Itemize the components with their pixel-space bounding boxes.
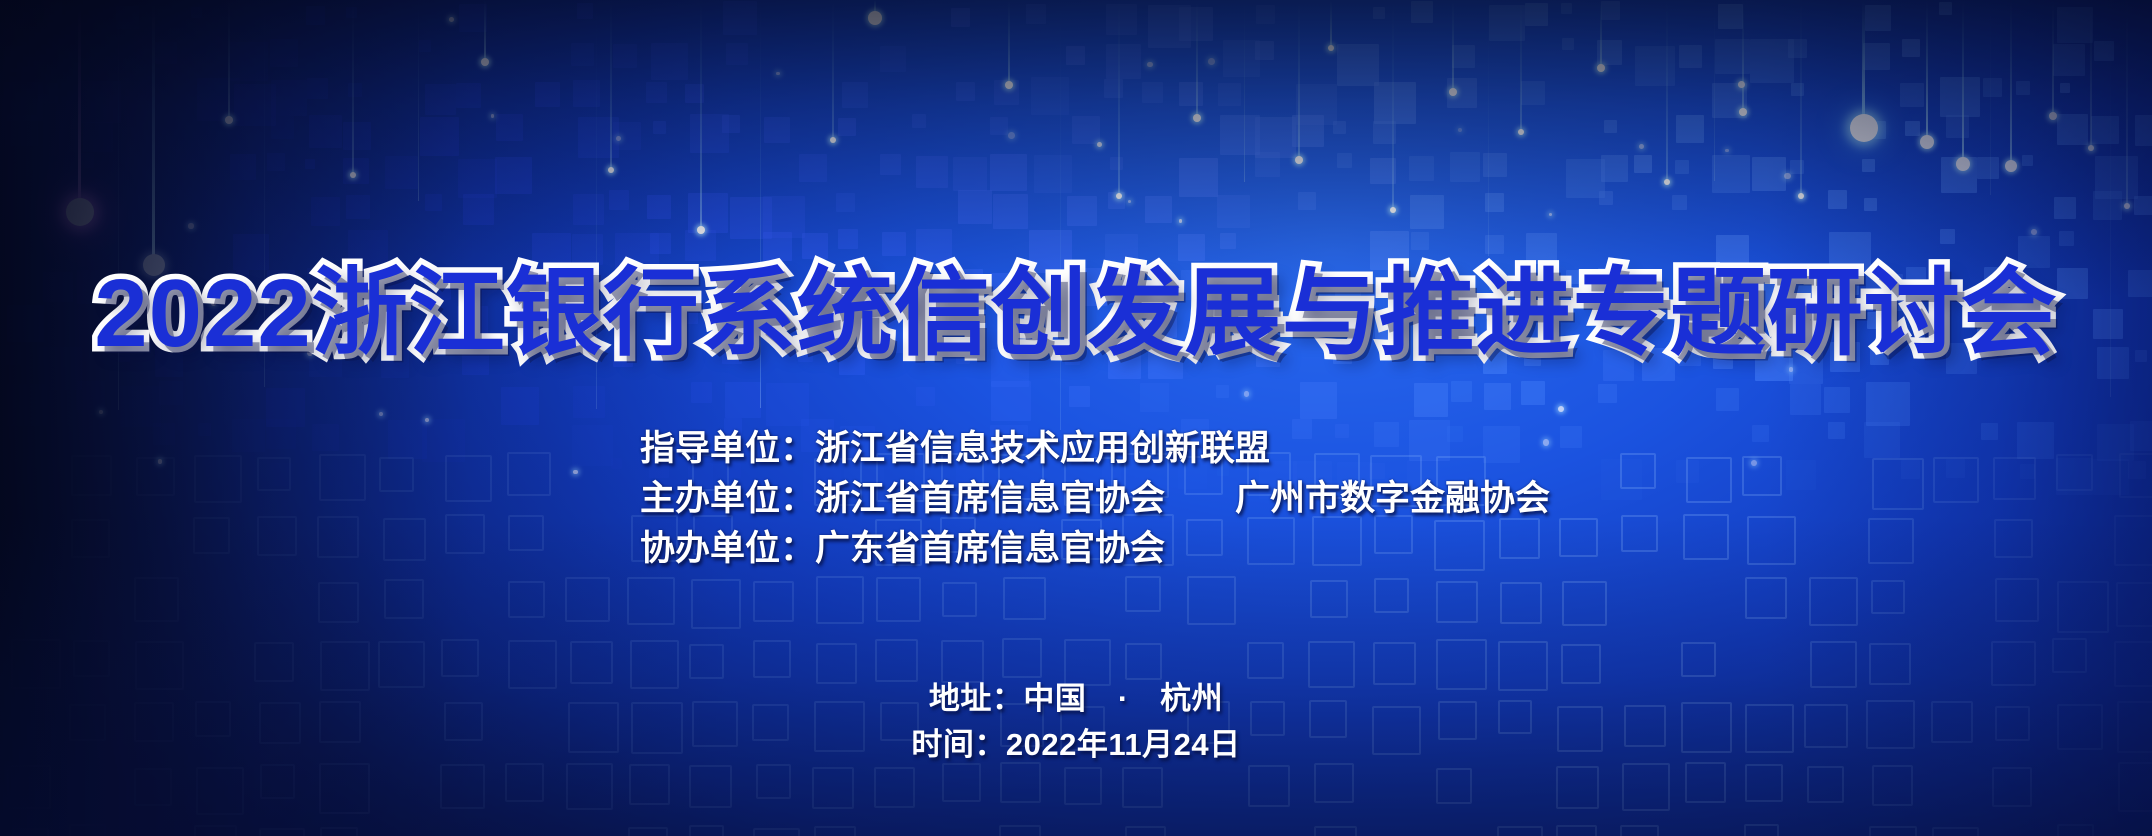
page-title: 2022浙江银行系统信创发展与推进专题研讨会 xyxy=(0,260,2152,368)
banner-content: 2022浙江银行系统信创发展与推进专题研讨会 指导单位：浙江省信息技术应用创新联… xyxy=(0,0,2152,836)
organizer-line-host: 主办单位：浙江省首席信息官协会 广州市数字金融协会 xyxy=(640,474,1550,524)
organizer-line-co-host: 协办单位：广东省首席信息官协会 xyxy=(640,524,1550,574)
organizer-line-guidance: 指导单位：浙江省信息技术应用创新联盟 xyxy=(640,424,1550,474)
organizer-list: 指导单位：浙江省信息技术应用创新联盟 主办单位：浙江省首席信息官协会 广州市数字… xyxy=(640,424,1550,574)
conference-banner: 2022浙江银行系统信创发展与推进专题研讨会 指导单位：浙江省信息技术应用创新联… xyxy=(0,0,2152,836)
event-meta: 地址：中国 · 杭州 时间：2022年11月24日 xyxy=(0,676,2152,768)
event-location: 地址：中国 · 杭州 xyxy=(0,676,2152,722)
event-date: 时间：2022年11月24日 xyxy=(0,722,2152,768)
